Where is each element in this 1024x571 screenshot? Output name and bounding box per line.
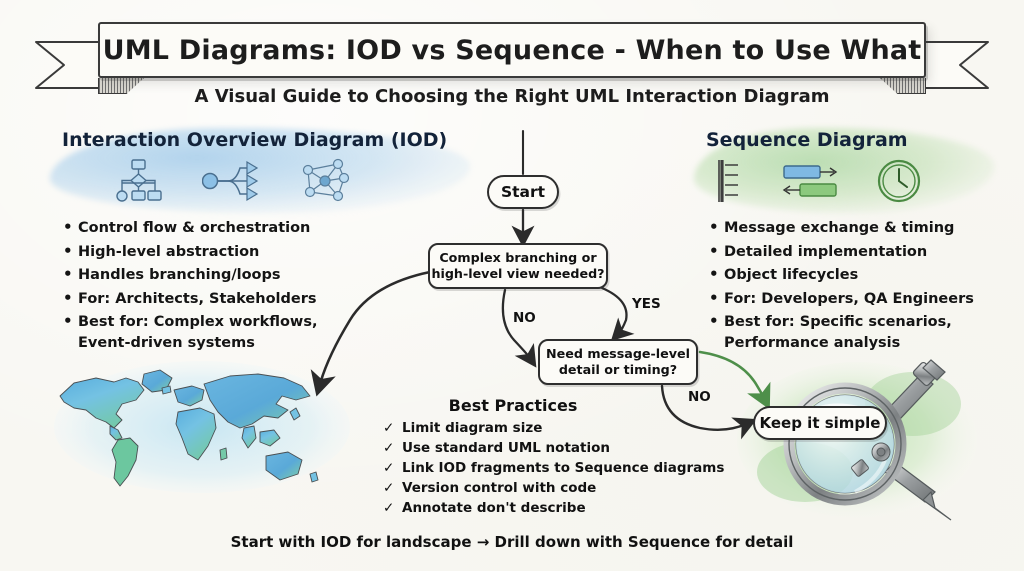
list-item: Version control with code bbox=[383, 478, 724, 498]
iod-icon-strip bbox=[112, 158, 352, 204]
list-item: Object lifecycles bbox=[708, 265, 1008, 286]
page-subtitle: A Visual Guide to Choosing the Right UML… bbox=[0, 86, 1024, 107]
list-item: Control flow & orchestration bbox=[62, 218, 402, 239]
list-item: For: Developers, QA Engineers bbox=[708, 289, 1008, 310]
list-item: For: Architects, Stakeholders bbox=[62, 289, 402, 310]
iod-bullet-list: Control flow & orchestration High-level … bbox=[62, 218, 402, 357]
clock-icon bbox=[876, 158, 922, 204]
infographic-canvas: UML Diagrams: IOD vs Sequence - When to … bbox=[0, 0, 1024, 571]
best-practices-list: Limit diagram size Use standard UML nota… bbox=[383, 418, 724, 518]
list-item: Best for: Complex workflows, Event-drive… bbox=[62, 312, 402, 354]
page-title: UML Diagrams: IOD vs Sequence - When to … bbox=[103, 35, 922, 66]
footer-takeaway: Start with IOD for landscape → Drill dow… bbox=[0, 533, 1024, 551]
edge-label-yes-1: YES bbox=[632, 296, 661, 312]
sequence-column-heading: Sequence Diagram bbox=[706, 129, 908, 151]
magnifying-glass-illustration bbox=[735, 352, 985, 528]
flow-node-keep-it-simple[interactable]: Keep it simple bbox=[753, 406, 887, 440]
list-item: Best for: Specific scenarios, Performanc… bbox=[708, 312, 1008, 354]
iod-column-heading: Interaction Overview Diagram (IOD) bbox=[62, 129, 447, 151]
list-item: Use standard UML notation bbox=[383, 438, 724, 458]
flow-node-start[interactable]: Start bbox=[487, 175, 559, 209]
message-exchange-icon bbox=[780, 158, 842, 204]
best-practices-title: Best Practices bbox=[383, 396, 643, 415]
list-item: Annotate don't describe bbox=[383, 498, 724, 518]
node-network-icon bbox=[298, 158, 352, 204]
flow-node-decision-complex-branching[interactable]: Complex branching or high-level view nee… bbox=[428, 243, 608, 289]
list-item: Limit diagram size bbox=[383, 418, 724, 438]
edge-label-no-1: NO bbox=[513, 310, 536, 326]
lifeline-icon bbox=[712, 158, 746, 204]
list-item: High-level abstraction bbox=[62, 242, 402, 263]
world-map-illustration bbox=[52, 356, 352, 498]
best-practices-section: Best Practices Limit diagram size Use st… bbox=[383, 396, 724, 518]
sequence-icon-strip bbox=[712, 158, 922, 204]
list-item: Handles branching/loops bbox=[62, 265, 402, 286]
list-item: Link IOD fragments to Sequence diagrams bbox=[383, 458, 724, 478]
branch-fork-icon bbox=[202, 158, 260, 204]
flowchart-tree-icon bbox=[112, 158, 164, 204]
banner-plate: UML Diagrams: IOD vs Sequence - When to … bbox=[98, 22, 926, 78]
sequence-bullet-list: Message exchange & timing Detailed imple… bbox=[708, 218, 1008, 357]
title-banner: UML Diagrams: IOD vs Sequence - When to … bbox=[32, 22, 992, 92]
flow-node-decision-message-level[interactable]: Need message-level detail or timing? bbox=[538, 339, 698, 385]
edge-label-no-2: NO bbox=[688, 389, 711, 405]
list-item: Message exchange & timing bbox=[708, 218, 1008, 239]
list-item: Detailed implementation bbox=[708, 242, 1008, 263]
